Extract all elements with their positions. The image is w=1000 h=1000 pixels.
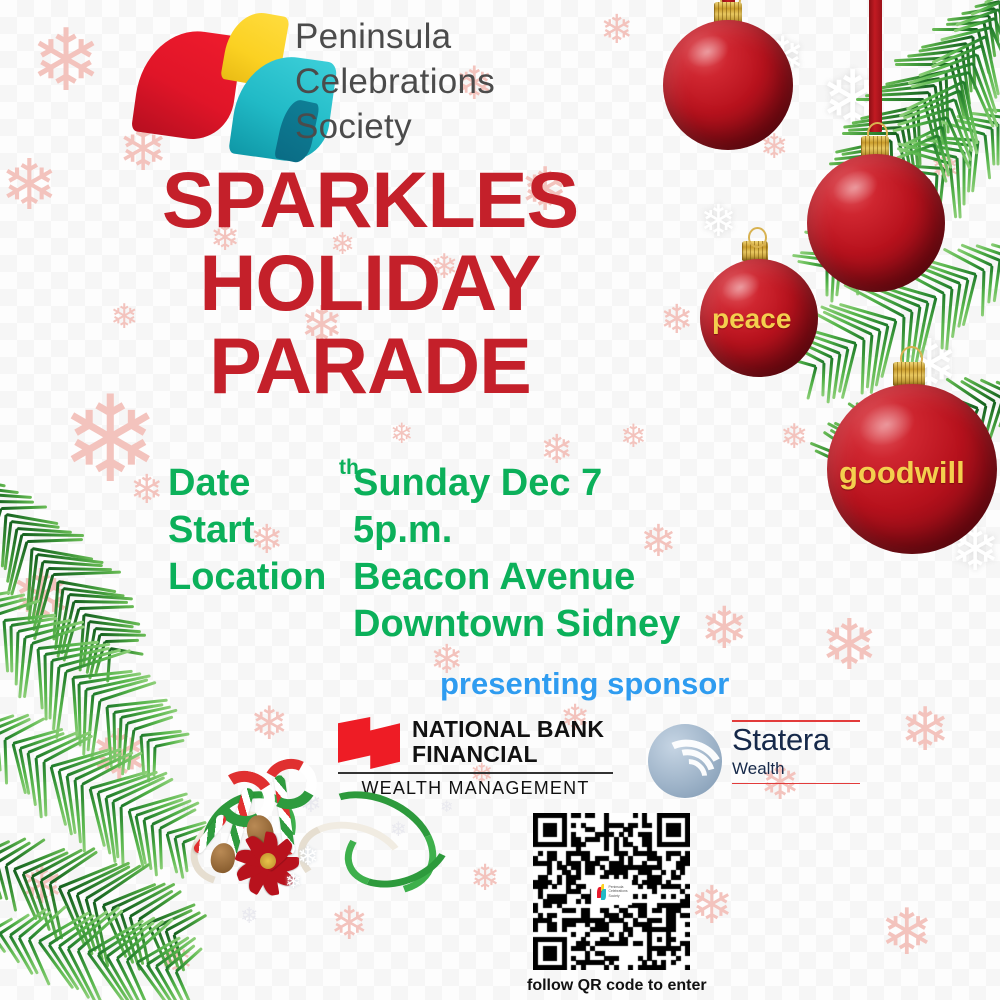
snowflake-icon: ❄ (250, 700, 289, 746)
snowflake-icon: ❄ (700, 600, 749, 658)
snowflake-icon: ❄ (30, 18, 102, 104)
ornament-label-peace: peace (712, 303, 791, 335)
headline-line-3: PARADE (60, 324, 680, 407)
qr-logo-line-1: Peninsula (609, 885, 624, 889)
snowflake-icon: ❄ (470, 860, 500, 896)
snowflake-icon: ❄ (330, 900, 369, 946)
page-title: SPARKLES HOLIDAY PARADE (60, 158, 680, 407)
detail-row-start: Start 5p.m. (168, 509, 680, 556)
snowflake-icon: ❄ (620, 420, 647, 452)
statera-rule-bottom (732, 783, 860, 785)
snowflake-icon: ❄ (690, 880, 734, 932)
qr-code-caption: follow QR code to enter (527, 977, 684, 995)
snowflake-icon: ❄ (700, 200, 737, 244)
qr-code-image[interactable]: Peninsula Celebrations Society (533, 813, 690, 970)
detail-value-start: 5p.m. (353, 509, 452, 552)
statera-name: Statera (732, 722, 860, 758)
detail-label-start: Start (168, 509, 353, 552)
qr-embedded-logo: Peninsula Celebrations Society (595, 881, 629, 903)
detail-value-location-city: Downtown Sidney (353, 603, 680, 646)
holiday-parade-poster: ❄❄❄❄❄❄❄❄❄❄❄❄❄❄❄❄❄❄❄❄❄❄❄❄❄❄❄❄❄❄❄❄❄❄❄❄❄❄❄❄… (0, 0, 1000, 1000)
snowflake-icon: ❄ (820, 610, 879, 680)
ornament-loop (748, 227, 767, 248)
qr-logo-line-3: Society (609, 894, 620, 898)
detail-value-date-text: Sunday Dec 7 (353, 462, 602, 504)
statera-text-block: Statera Wealth (732, 720, 860, 784)
detail-row-location: Location Beacon Avenue (168, 556, 680, 603)
detail-value-location: Beacon Avenue (353, 556, 635, 599)
poinsettia-center (260, 853, 276, 869)
qr-logo-line-2: Celebrations (609, 889, 628, 893)
ornament-ball (663, 20, 793, 150)
organization-name-line-3: Society (295, 104, 545, 149)
snowflake-icon: ❄ (880, 900, 934, 964)
organization-name: Peninsula Celebrations Society (295, 14, 545, 149)
ornament-ball (807, 154, 945, 292)
snowflake-icon: ❄ (285, 869, 302, 894)
logo-swoosh-red-icon (131, 24, 243, 145)
ornament-cap (893, 362, 925, 386)
detail-row-location-2: Downtown Sidney (168, 603, 680, 650)
qr-code-block[interactable]: Peninsula Celebrations Society follow QR… (533, 813, 690, 970)
statera-subtitle: Wealth (732, 758, 860, 780)
organization-name-line-1: Peninsula (295, 14, 545, 59)
detail-label-location: Location (168, 556, 353, 599)
snowflake-icon: ❄ (297, 841, 319, 872)
statera-swirl-icon (648, 724, 722, 798)
snowflake-icon: ❄ (0, 150, 59, 220)
organization-logo: Peninsula Celebrations Society (130, 8, 550, 148)
snowflake-icon: ❄ (600, 10, 634, 50)
organization-name-line-2: Celebrations (295, 59, 545, 104)
event-details: Date Sunday Dec 7th Start 5p.m. Location… (168, 462, 680, 650)
ornament-label-goodwill: goodwill (839, 455, 965, 491)
snowflake-icon: ❄ (240, 905, 258, 927)
headline-line-1: SPARKLES (60, 158, 680, 241)
detail-value-date: Sunday Dec 7th (353, 462, 602, 505)
detail-label-date: Date (168, 462, 353, 505)
detail-row-date: Date Sunday Dec 7th (168, 462, 680, 509)
headline-line-2: HOLIDAY (60, 241, 680, 324)
date-superscript: th (339, 456, 359, 480)
ribbon (869, 0, 882, 132)
holiday-floral-arrangement: ❄❄ (193, 765, 443, 905)
presenting-sponsor-label: presenting sponsor (440, 666, 729, 702)
snowflake-icon: ❄ (390, 420, 413, 448)
snowflake-icon: ❄ (900, 700, 950, 760)
